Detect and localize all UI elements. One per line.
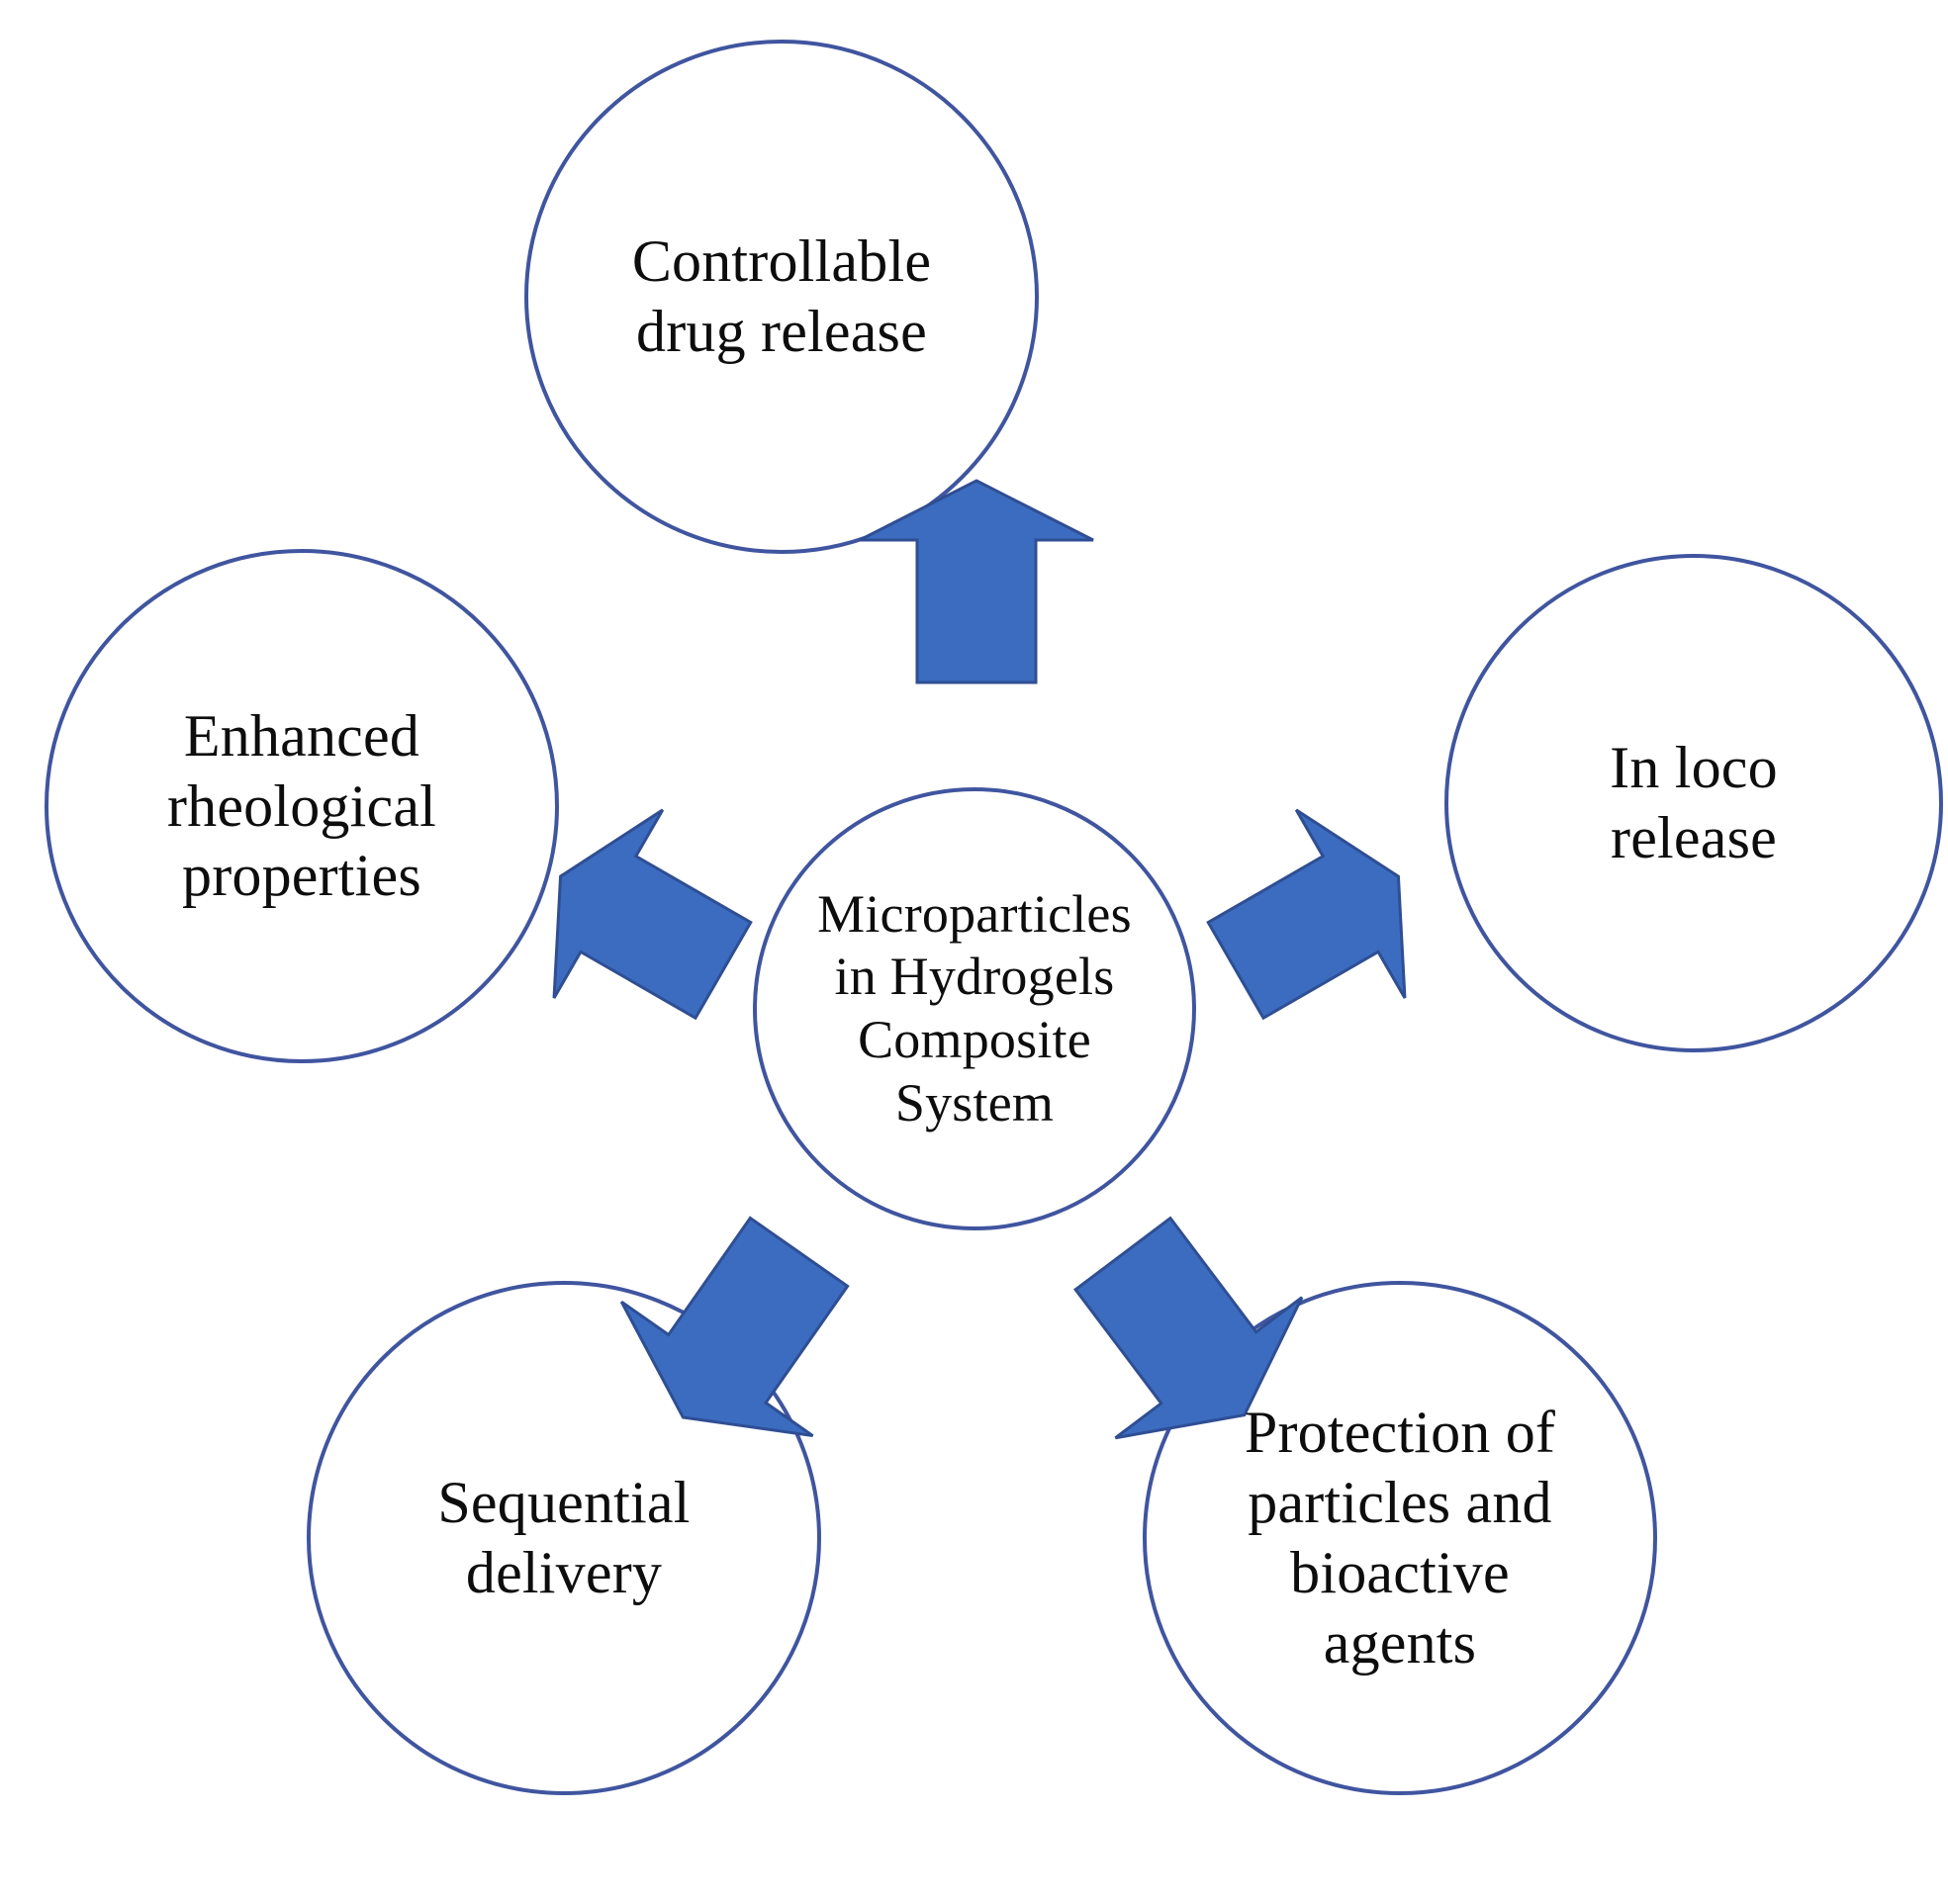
node-circle-controllable-drug-release[interactable] — [526, 42, 1037, 552]
arrow-to-in-loco-release — [1181, 782, 1452, 1064]
diagram-vector-layer — [0, 0, 1948, 1904]
diagram-canvas: Controllable drug releaseIn loco release… — [0, 0, 1948, 1904]
node-circle-in-loco-release[interactable] — [1446, 556, 1941, 1050]
center-circle-center-node[interactable] — [755, 789, 1194, 1228]
node-circle-enhanced-rheological-properties[interactable] — [46, 551, 557, 1061]
circle-nodes-group — [46, 42, 1941, 1793]
